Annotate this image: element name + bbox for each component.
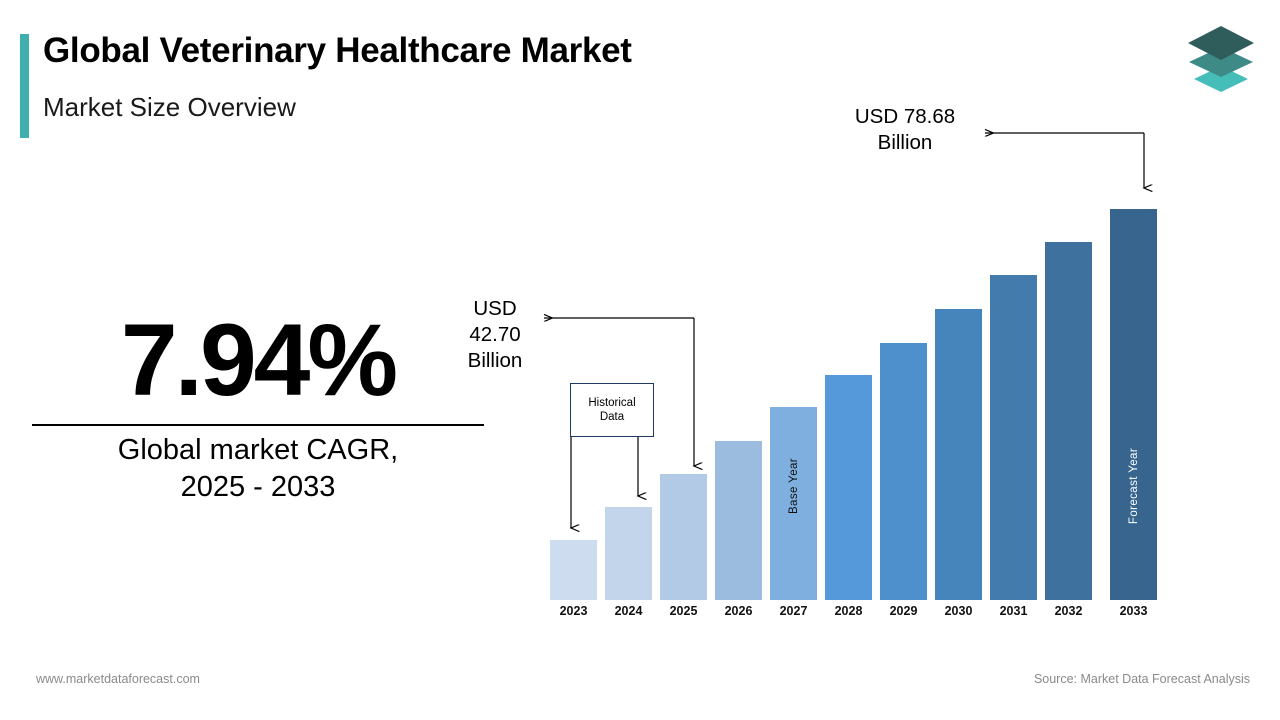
historical-data-line2: Data [588, 410, 635, 424]
bar-year-label-2024: 2024 [605, 604, 652, 618]
bar-2027: Base Year [770, 407, 817, 600]
bar-chart: 2023202420252026Base Year202720282029203… [0, 0, 1280, 720]
infographic-page: { "header": { "title": "Global Veterinar… [0, 0, 1280, 720]
bar-year-label-2032: 2032 [1045, 604, 1092, 618]
callout-2033-line1: USD 78.68 [820, 104, 990, 130]
bar-inner-label-2033: Forecast Year [1128, 448, 1140, 524]
historical-data-line1: Historical [588, 396, 635, 410]
bar-year-label-2030: 2030 [935, 604, 982, 618]
bar-2028 [825, 375, 872, 600]
bar-year-label-2026: 2026 [715, 604, 762, 618]
bar-2023 [550, 540, 597, 600]
footer-website[interactable]: www.marketdataforecast.com [36, 672, 200, 686]
bar-2029 [880, 343, 927, 600]
bar-year-label-2027: 2027 [770, 604, 817, 618]
callout-2025-line1: USD [440, 296, 550, 322]
bar-2026 [715, 441, 762, 600]
bar-inner-label-2027: Base Year [788, 458, 800, 514]
callout-2025-line2: 42.70 [440, 322, 550, 348]
bar-year-label-2025: 2025 [660, 604, 707, 618]
footer-source: Source: Market Data Forecast Analysis [1034, 672, 1250, 686]
bar-year-label-2023: 2023 [550, 604, 597, 618]
bar-year-label-2031: 2031 [990, 604, 1037, 618]
bar-year-label-2028: 2028 [825, 604, 872, 618]
bar-2033: Forecast Year [1110, 209, 1157, 600]
bar-year-label-2029: 2029 [880, 604, 927, 618]
callout-label-2025: USD 42.70 Billion [440, 296, 550, 375]
callout-label-2033: USD 78.68 Billion [820, 104, 990, 156]
bar-year-label-2033: 2033 [1110, 604, 1157, 618]
bar-2025 [660, 474, 707, 600]
bar-2024 [605, 507, 652, 600]
historical-data-box: Historical Data [570, 383, 654, 437]
bar-2031 [990, 275, 1037, 600]
bar-2030 [935, 309, 982, 600]
callout-2025-line3: Billion [440, 348, 550, 374]
callout-2033-line2: Billion [820, 130, 990, 156]
bar-2032 [1045, 242, 1092, 600]
